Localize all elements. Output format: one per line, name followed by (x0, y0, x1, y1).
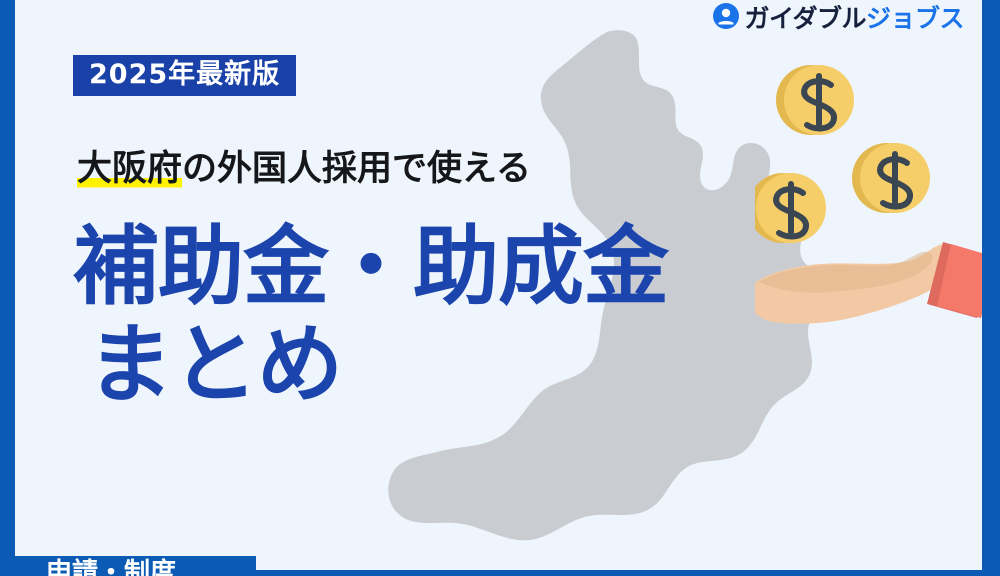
subtitle: 大阪府の外国人採用で使える (77, 148, 531, 190)
thumbnail-canvas: ガイダブルジョブス 2025年最新版 大阪府の外国人採用で使える 補助金・助成金… (0, 0, 1000, 576)
coins-and-hand-illustration (755, 60, 982, 340)
bottom-banner-text: 申請・制度 (46, 560, 176, 576)
year-badge: 2025年最新版 (73, 55, 296, 96)
logo-text-blue: ジョブス (866, 4, 964, 33)
bottom-banner: 申請・制度 (0, 556, 256, 576)
title-line-1: 補助金・助成金 (73, 222, 668, 312)
user-circle-icon (713, 3, 739, 33)
brand-logo[interactable]: ガイダブルジョブス (713, 3, 964, 33)
page-title: 補助金・助成金 まとめ (73, 222, 668, 411)
coin-icon (852, 143, 930, 213)
hand-shape (755, 244, 959, 324)
coin-icon (755, 173, 826, 243)
subtitle-highlight: 大阪府 (77, 149, 182, 189)
content-panel: ガイダブルジョブス 2025年最新版 大阪府の外国人採用で使える 補助金・助成金… (15, 0, 982, 570)
coin-icon (776, 65, 854, 135)
title-line-2: まとめ (87, 320, 668, 410)
subtitle-rest: の外国人採用で使える (182, 149, 531, 189)
logo-wordmark: ガイダブルジョブス (744, 6, 964, 31)
logo-text-dark: ガイダブル (744, 4, 866, 33)
